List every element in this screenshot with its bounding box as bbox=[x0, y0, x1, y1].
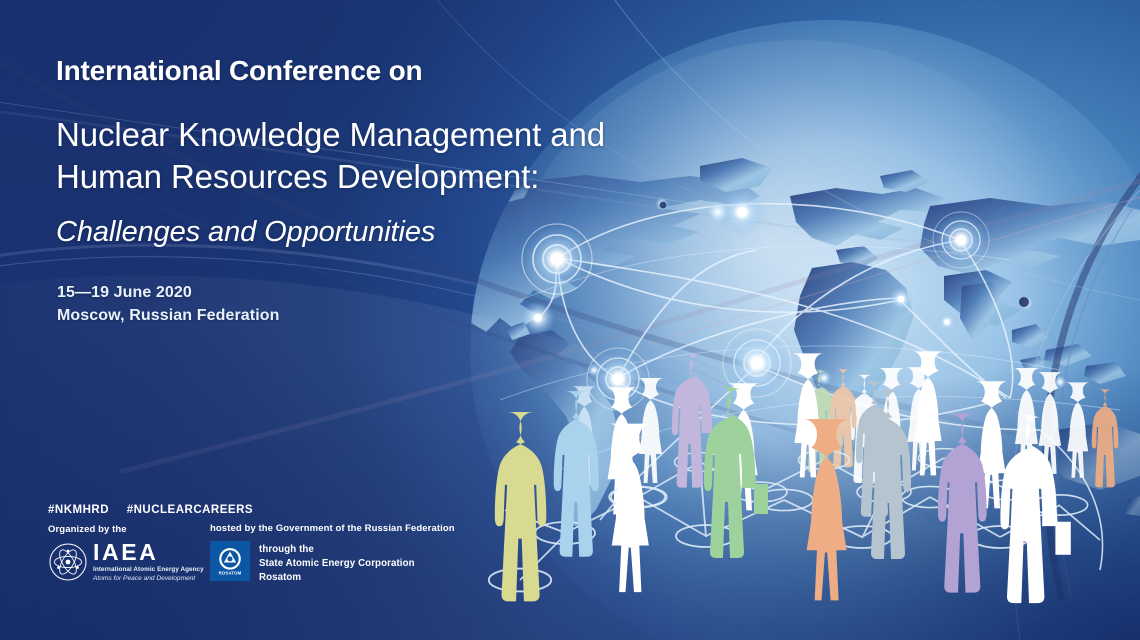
rosatom-icon: ROSATOM bbox=[210, 541, 250, 581]
iaea-tagline: Atoms for Peace and Development bbox=[93, 575, 204, 582]
event-location: Moscow, Russian Federation bbox=[57, 304, 280, 327]
event-details: 15—19 June 2020 Moscow, Russian Federati… bbox=[57, 281, 280, 327]
title-line-1: Nuclear Knowledge Management and bbox=[56, 114, 676, 156]
title-block: International Conference on Nuclear Know… bbox=[56, 56, 676, 250]
host-block: hosted by the Government of the Russian … bbox=[210, 523, 520, 585]
page-title: Nuclear Knowledge Management and Human R… bbox=[56, 114, 676, 198]
title-line-2: Human Resources Development: bbox=[56, 156, 676, 198]
svg-text:ROSATOM: ROSATOM bbox=[219, 571, 242, 576]
host-line-2: State Atomic Energy Corporation bbox=[259, 557, 415, 571]
iaea-wordmark: IAEA International Atomic Energy Agency … bbox=[93, 542, 204, 582]
hashtag-nkmhrd[interactable]: #NKMHRD bbox=[48, 504, 109, 516]
host-line-3: Rosatom bbox=[259, 571, 415, 585]
host-line-1: through the bbox=[259, 543, 415, 557]
host-through-lines: through the State Atomic Energy Corporat… bbox=[259, 541, 415, 585]
conference-kicker: International Conference on bbox=[56, 56, 676, 87]
conference-banner: International Conference on Nuclear Know… bbox=[0, 0, 1140, 640]
iaea-full-name: International Atomic Energy Agency bbox=[93, 566, 204, 573]
iaea-acronym: IAEA bbox=[93, 542, 204, 564]
rosatom-logo[interactable]: ROSATOM through the State Atomic Energy … bbox=[210, 541, 520, 585]
hashtag-list: #NKMHRD #NUCLEARCAREERS bbox=[48, 504, 267, 516]
host-label: hosted by the Government of the Russian … bbox=[210, 523, 520, 534]
iaea-atom-icon bbox=[48, 542, 88, 582]
hashtag-nuclearcareers[interactable]: #NUCLEARCAREERS bbox=[127, 504, 253, 516]
event-dates: 15—19 June 2020 bbox=[57, 281, 280, 304]
conference-subtitle: Challenges and Opportunities bbox=[56, 215, 676, 250]
